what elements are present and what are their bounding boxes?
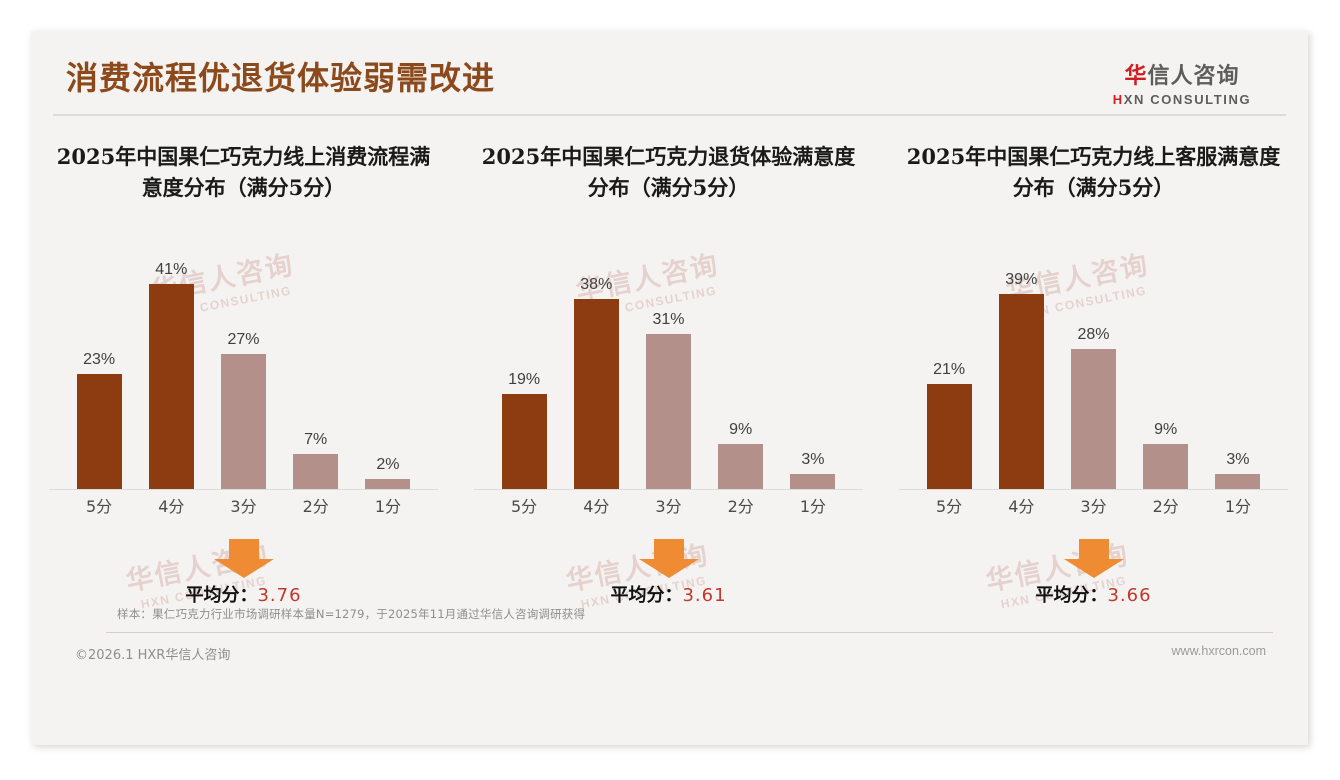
bar-value-label: 38% [580, 276, 612, 294]
bar-value-label: 41% [155, 261, 187, 279]
bar[interactable] [790, 474, 835, 489]
bar-slot: 7% [280, 233, 352, 489]
bars-container: 19% 38% 31% 9% [488, 233, 849, 489]
average-score: 平均分：3.61 [456, 581, 881, 607]
charts-row: 2025年中国果仁巧克力线上消费流程满意度分布（满分5分） 23% 41% 27… [31, 141, 1308, 617]
bar-slot: 3% [777, 233, 849, 489]
bar[interactable] [293, 454, 338, 489]
bar-slot: 41% [135, 233, 207, 489]
logo-chinese-text: 华信人咨询 [1092, 58, 1272, 90]
header-divider [53, 114, 1286, 116]
category-labels: 5分 4分 3分 2分 1分 [488, 493, 849, 523]
brand-logo: 华信人咨询 HXN CONSULTING [1092, 58, 1272, 107]
category-label: 1分 [1202, 493, 1274, 523]
logo-rest-chars: 信人咨询 [1148, 64, 1240, 89]
bar-chart-1: 23% 41% 27% 7% [49, 233, 438, 523]
copyright-text: ©2026.1 HXR华信人咨询 [75, 644, 230, 663]
logo-accent-char: 华 [1124, 64, 1147, 89]
bar-slot: 9% [1130, 233, 1202, 489]
bar-value-label: 23% [83, 351, 115, 369]
bar-value-label: 9% [729, 421, 752, 439]
chart-title: 2025年中国果仁巧克力退货体验满意度分布（满分5分） [456, 141, 881, 205]
average-value: 3.61 [682, 585, 726, 606]
category-label: 1分 [352, 493, 424, 523]
category-label: 5分 [488, 493, 560, 523]
bar[interactable] [718, 444, 763, 489]
slide-header: 消费流程优退货体验弱需改进 华信人咨询 HXN CONSULTING [31, 31, 1308, 115]
bar-chart-2: 19% 38% 31% 9% [474, 233, 863, 523]
category-label: 5分 [913, 493, 985, 523]
category-label: 4分 [135, 493, 207, 523]
down-arrow-icon [456, 537, 881, 579]
bar-value-label: 2% [376, 456, 399, 474]
x-axis-line [474, 489, 863, 490]
x-axis-line [49, 489, 438, 490]
bar-slot: 38% [560, 233, 632, 489]
average-label: 平均分： [185, 585, 257, 606]
bar[interactable] [1215, 474, 1260, 489]
sample-footnote: 样本：果仁巧克力行业市场调研样本量N=1279，于2025年11月通过华信人咨询… [117, 606, 585, 622]
category-labels: 5分 4分 3分 2分 1分 [63, 493, 424, 523]
bar[interactable] [999, 294, 1044, 489]
logo-en-accent-char: H [1113, 92, 1124, 107]
average-block-3: 平均分：3.66 [881, 537, 1306, 617]
category-label: 3分 [1057, 493, 1129, 523]
average-value: 3.66 [1107, 585, 1151, 606]
bar[interactable] [1071, 349, 1116, 489]
category-label: 1分 [777, 493, 849, 523]
website-url[interactable]: www.hxrcon.com [1172, 644, 1266, 658]
down-arrow-icon [881, 537, 1306, 579]
bars-container: 23% 41% 27% 7% [63, 233, 424, 489]
bar-slot: 28% [1057, 233, 1129, 489]
average-value: 3.76 [257, 585, 301, 606]
bar-value-label: 3% [801, 451, 824, 469]
page-title: 消费流程优退货体验弱需改进 [66, 53, 495, 99]
average-score: 平均分：3.66 [881, 581, 1306, 607]
bar-slot: 27% [207, 233, 279, 489]
bar-slot: 31% [632, 233, 704, 489]
average-score: 平均分：3.76 [31, 581, 456, 607]
category-label: 2分 [1130, 493, 1202, 523]
bar-slot: 19% [488, 233, 560, 489]
category-label: 2分 [705, 493, 777, 523]
category-label: 3分 [632, 493, 704, 523]
bar-chart-3: 21% 39% 28% 9% [899, 233, 1288, 523]
bar-slot: 23% [63, 233, 135, 489]
bar[interactable] [365, 479, 410, 489]
chart-panel-2: 2025年中国果仁巧克力退货体验满意度分布（满分5分） 19% 38% 31% [456, 141, 881, 617]
bars-container: 21% 39% 28% 9% [913, 233, 1274, 489]
bar-value-label: 7% [304, 431, 327, 449]
bar[interactable] [927, 384, 972, 489]
bar-slot: 9% [705, 233, 777, 489]
bar-slot: 39% [985, 233, 1057, 489]
category-label: 5分 [63, 493, 135, 523]
bar-value-label: 39% [1005, 271, 1037, 289]
bar[interactable] [77, 374, 122, 489]
bar-slot: 21% [913, 233, 985, 489]
bar[interactable] [574, 299, 619, 489]
chart-title: 2025年中国果仁巧克力线上客服满意度分布（满分5分） [881, 141, 1306, 205]
bar-slot: 3% [1202, 233, 1274, 489]
slide-card: 华信人咨询 HXN CONSULTING 华信人咨询 HXN CONSULTIN… [31, 31, 1308, 745]
category-labels: 5分 4分 3分 2分 1分 [913, 493, 1274, 523]
average-label: 平均分： [1035, 585, 1107, 606]
average-block-1: 平均分：3.76 [31, 537, 456, 617]
average-block-2: 平均分：3.61 [456, 537, 881, 617]
slide-footer: ©2026.1 HXR华信人咨询 www.hxrcon.com [31, 639, 1308, 669]
bar[interactable] [646, 334, 691, 489]
logo-english-text: HXN CONSULTING [1092, 92, 1272, 107]
bar-value-label: 31% [652, 311, 684, 329]
bar-slot: 2% [352, 233, 424, 489]
bar[interactable] [221, 354, 266, 489]
chart-panel-1: 2025年中国果仁巧克力线上消费流程满意度分布（满分5分） 23% 41% 27… [31, 141, 456, 617]
bar-value-label: 21% [933, 361, 965, 379]
logo-en-rest-chars: XN CONSULTING [1124, 92, 1251, 107]
bar-value-label: 28% [1077, 326, 1109, 344]
bar-value-label: 19% [508, 371, 540, 389]
x-axis-line [899, 489, 1288, 490]
bar[interactable] [502, 394, 547, 489]
chart-title: 2025年中国果仁巧克力线上消费流程满意度分布（满分5分） [31, 141, 456, 205]
bar-value-label: 3% [1226, 451, 1249, 469]
down-arrow-icon [31, 537, 456, 579]
bar[interactable] [149, 284, 194, 489]
bar[interactable] [1143, 444, 1188, 489]
average-label: 平均分： [610, 585, 682, 606]
category-label: 3分 [207, 493, 279, 523]
category-label: 4分 [560, 493, 632, 523]
category-label: 4分 [985, 493, 1057, 523]
chart-panel-3: 2025年中国果仁巧克力线上客服满意度分布（满分5分） 21% 39% 28% [881, 141, 1306, 617]
bar-value-label: 9% [1154, 421, 1177, 439]
footer-divider [106, 632, 1273, 633]
bar-value-label: 27% [227, 331, 259, 349]
category-label: 2分 [280, 493, 352, 523]
